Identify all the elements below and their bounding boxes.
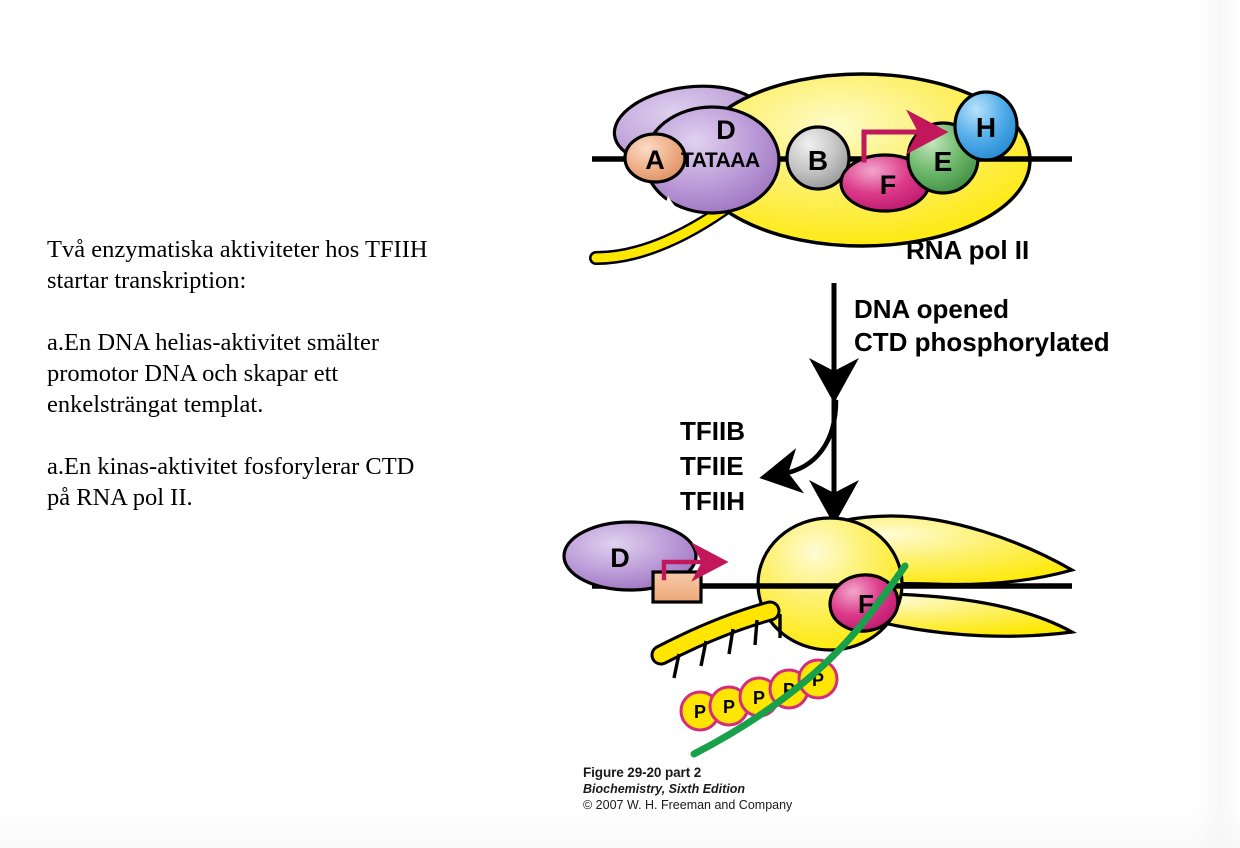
- phosphate-label: P: [694, 702, 706, 722]
- factor-release-arrow: [782, 400, 836, 474]
- top-panel-preinitiation-complex: TATAAA A D B F E H RNA pol II: [592, 74, 1072, 265]
- caption-figure-number: Figure 29-20 part 2: [583, 764, 923, 781]
- tfiie-letter-top: E: [934, 146, 953, 177]
- released-factor-tfiih: TFIIH: [680, 486, 745, 516]
- tata-box-bottom: [653, 572, 701, 602]
- caption-copyright: © 2007 W. H. Freeman and Company: [583, 797, 923, 813]
- bottom-panel-elongation-complex: D F P P P P P: [564, 516, 1072, 754]
- tfiia-letter-top: A: [645, 145, 665, 175]
- rna-pol-ii-label: RNA pol II: [906, 235, 1029, 265]
- middle-step-group: DNA opened CTD phosphorylated TFIIB TFII…: [680, 283, 1110, 516]
- step-label-line-1: DNA opened: [854, 294, 1009, 324]
- phosphate-stem: [755, 620, 757, 645]
- transcription-initiation-figure: TATAAA A D B F E H RNA pol II DNA opened…: [0, 0, 1240, 848]
- released-factor-tfiib: TFIIB: [680, 416, 745, 446]
- tfiih-letter-top: H: [976, 112, 996, 143]
- figure-caption: Figure 29-20 part 2 Biochemistry, Sixth …: [583, 764, 923, 813]
- tata-sequence-label-top: TATAAA: [681, 149, 760, 172]
- tfiif-letter-top: F: [880, 170, 897, 200]
- tfiid-letter-top: D: [716, 115, 736, 145]
- step-label-line-2: CTD phosphorylated: [854, 327, 1110, 357]
- tfiib-letter-top: B: [808, 145, 828, 176]
- released-factor-tfiie: TFIIE: [680, 451, 744, 481]
- caption-book-title: Biochemistry, Sixth Edition: [583, 781, 923, 797]
- slide-canvas: Två enzymatiska aktiviteter hos TFIIH st…: [0, 0, 1240, 848]
- phosphate-label: P: [753, 688, 765, 708]
- tfiid-letter-bottom: D: [610, 543, 630, 573]
- ctd-tail-bottom: [661, 611, 770, 655]
- phosphate-label: P: [723, 697, 735, 717]
